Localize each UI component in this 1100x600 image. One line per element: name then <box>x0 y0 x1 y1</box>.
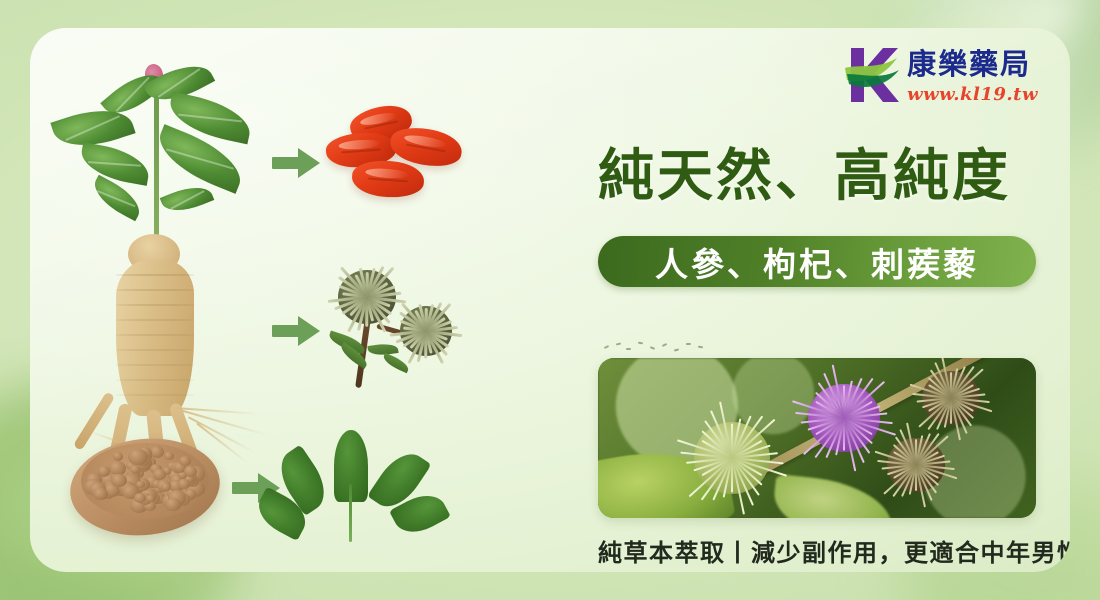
brand-text: 康樂藥局 www.kl19.tw <box>907 44 1038 105</box>
photo-flower-purple <box>808 384 880 452</box>
speck <box>650 346 655 350</box>
product-photo <box>598 358 1036 518</box>
speck <box>626 348 631 350</box>
photo-bur-green <box>694 422 770 494</box>
seed <box>164 452 174 460</box>
brand-url[interactable]: www.kl19.tw <box>907 84 1038 105</box>
content-column: 康樂藥局 www.kl19.tw 純天然、高純度 人參、枸杞、刺蒺藜 純草本萃取… <box>540 28 1070 572</box>
speck <box>616 343 621 346</box>
photo-bur-dry <box>922 371 980 425</box>
brand-logo[interactable]: 康樂藥局 www.kl19.tw <box>843 44 1038 106</box>
illustration-row-goji <box>70 68 500 258</box>
seed <box>134 493 146 503</box>
seed <box>111 474 127 487</box>
speck <box>674 348 679 351</box>
seed <box>130 465 140 474</box>
seed-bowl-illustration <box>70 433 230 543</box>
seed <box>113 452 124 461</box>
tribulus-burs-illustration <box>324 266 494 396</box>
leaf-vein <box>349 484 352 542</box>
speck <box>638 342 643 345</box>
speck <box>662 343 667 347</box>
illustration-column <box>30 28 540 572</box>
seed <box>179 456 192 467</box>
speck <box>686 343 691 345</box>
ingredients-badge: 人參、枸杞、刺蒺藜 <box>598 236 1036 287</box>
arrow-right-icon <box>270 311 324 351</box>
seed <box>165 498 180 511</box>
tribulus-bur <box>400 306 452 356</box>
goji-berry <box>351 159 425 200</box>
goji-berries-illustration <box>324 103 484 223</box>
seed <box>128 449 148 466</box>
seed <box>178 479 189 489</box>
seed <box>153 469 166 480</box>
tribulus-bur <box>338 270 396 324</box>
arrow-right-icon <box>270 143 324 183</box>
page-title: 純天然、高純度 <box>598 146 1011 208</box>
illustration-row-tribulus <box>70 256 500 406</box>
bur-leaf <box>381 353 411 374</box>
banner-card: 康樂藥局 www.kl19.tw 純天然、高純度 人參、枸杞、刺蒺藜 純草本萃取… <box>30 28 1070 572</box>
ingredients-badge-label: 人參、枸杞、刺蒺藜 <box>655 238 979 286</box>
illustration-row-leaf <box>70 418 500 558</box>
decorative-specks <box>598 340 718 354</box>
speck <box>698 346 703 349</box>
brand-name: 康樂藥局 <box>907 50 1038 79</box>
k-leaf-logo-icon <box>843 44 901 106</box>
green-leaf-illustration <box>284 428 434 548</box>
seed <box>184 466 197 477</box>
photo-bur-dry <box>887 438 945 492</box>
speck <box>604 345 609 349</box>
bowl-seeds <box>81 443 209 519</box>
caption-text: 純草本萃取丨減少副作用，更適合中年男性 <box>598 533 1070 568</box>
